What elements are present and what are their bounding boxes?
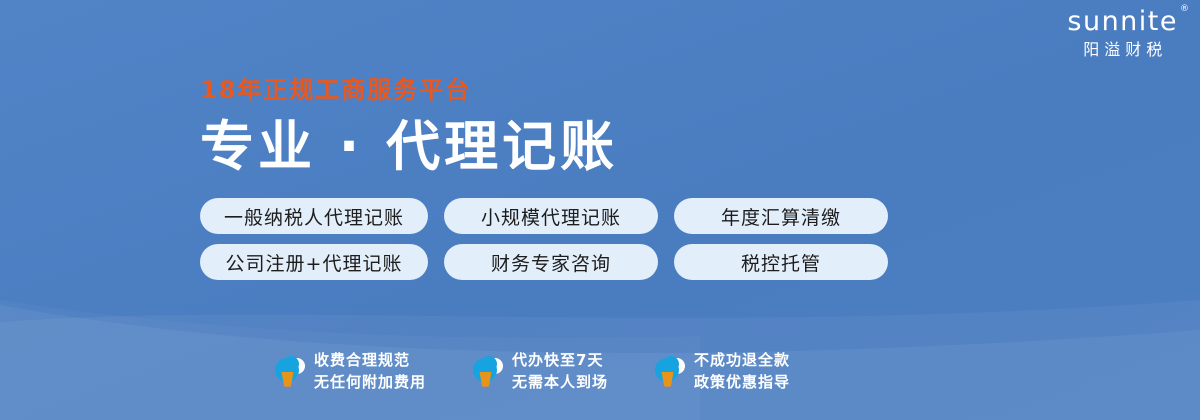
- feature-text-guarantee: 不成功退全款 政策优惠指导: [694, 350, 790, 394]
- feature-line-2: 政策优惠指导: [694, 372, 790, 394]
- feature-line-1: 收费合理规范: [314, 350, 426, 372]
- service-pill-small-scale[interactable]: 小规模代理记账: [444, 198, 658, 234]
- person-check-icon: [473, 355, 503, 389]
- feature-highlights: 收费合理规范 无任何附加费用 代办快至7天 无需本人到场: [275, 350, 790, 394]
- service-pill-annual-settlement[interactable]: 年度汇算清缴: [674, 198, 888, 234]
- feature-line-2: 无任何附加费用: [314, 372, 426, 394]
- service-pill-group: 一般纳税人代理记账 小规模代理记账 年度汇算清缴 公司注册+代理记账 财务专家咨…: [200, 198, 888, 290]
- logo-wordmark: sunnite ®: [1067, 8, 1178, 35]
- service-pill-tax-control-custody[interactable]: 税控托管: [674, 244, 888, 280]
- person-check-icon: [275, 355, 305, 389]
- service-pill-company-registration[interactable]: 公司注册+代理记账: [200, 244, 428, 280]
- feature-line-2: 无需本人到场: [512, 372, 608, 394]
- feature-item-guarantee: 不成功退全款 政策优惠指导: [655, 350, 790, 394]
- feature-item-pricing: 收费合理规范 无任何附加费用: [275, 350, 426, 394]
- feature-line-1: 代办快至7天: [512, 350, 608, 372]
- hero-copy: 18年正规工商服务平台 专业 · 代理记账: [200, 70, 618, 176]
- promo-banner: sunnite ® 阳溢财税 18年正规工商服务平台 专业 · 代理记账 一般纳…: [0, 0, 1200, 420]
- logo-subtitle: 阳溢财税: [1067, 42, 1178, 58]
- page-title: 专业 · 代理记账: [200, 117, 618, 176]
- service-pill-finance-consulting[interactable]: 财务专家咨询: [444, 244, 658, 280]
- service-pill-row-2: 公司注册+代理记账 财务专家咨询 税控托管: [200, 244, 888, 280]
- feature-line-1: 不成功退全款: [694, 350, 790, 372]
- service-pill-general-taxpayer[interactable]: 一般纳税人代理记账: [200, 198, 428, 234]
- feature-text-speed: 代办快至7天 无需本人到场: [512, 350, 608, 394]
- logo-wordmark-text: sunnite: [1067, 6, 1178, 37]
- service-pill-row-1: 一般纳税人代理记账 小规模代理记账 年度汇算清缴: [200, 198, 888, 234]
- brand-logo[interactable]: sunnite ® 阳溢财税: [1067, 8, 1178, 58]
- person-check-icon: [655, 355, 685, 389]
- registered-trademark-icon: ®: [1180, 5, 1189, 14]
- hero-eyebrow: 18年正规工商服务平台: [200, 70, 618, 105]
- feature-text-pricing: 收费合理规范 无任何附加费用: [314, 350, 426, 394]
- feature-item-speed: 代办快至7天 无需本人到场: [473, 350, 608, 394]
